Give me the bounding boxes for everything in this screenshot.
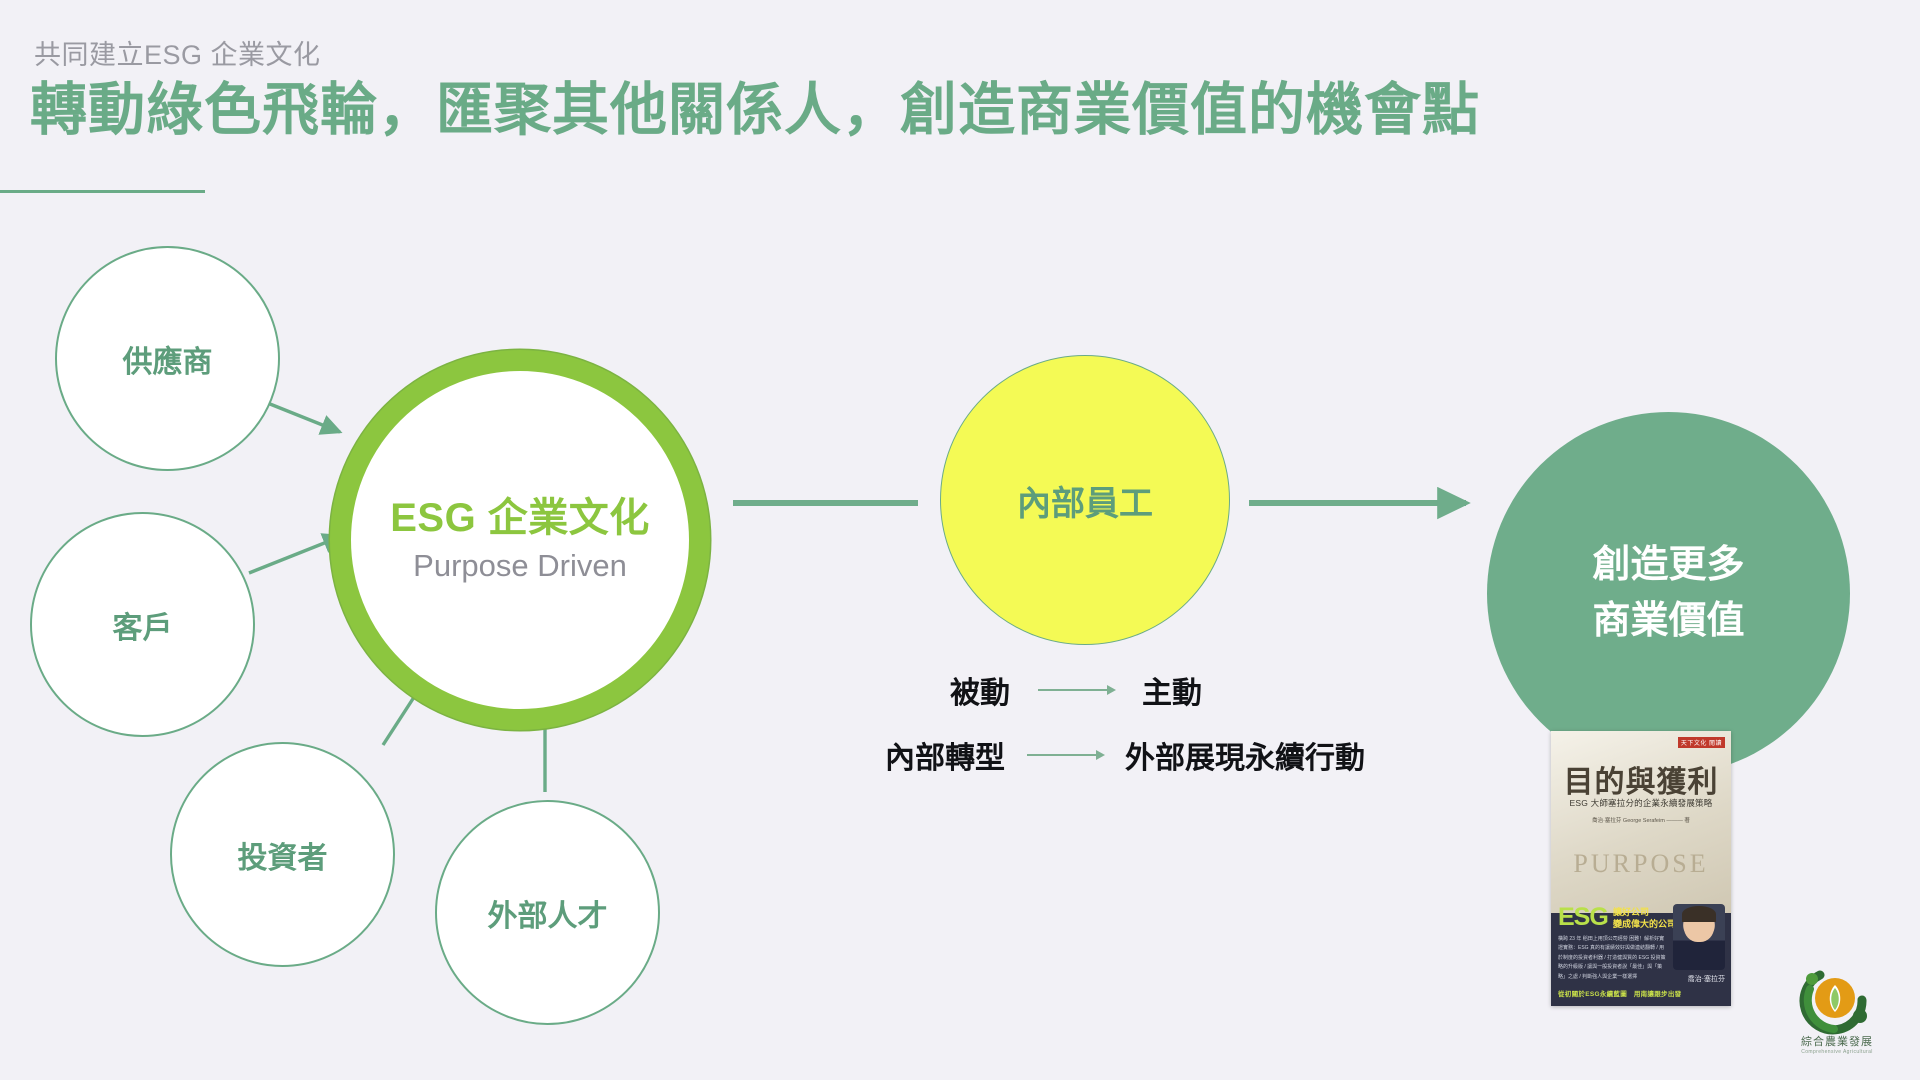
book-author-portrait bbox=[1673, 904, 1725, 970]
internal-staff-circle[interactable]: 內部員工 bbox=[940, 355, 1230, 645]
transition-to: 外部展現永續行動 bbox=[1125, 733, 1365, 777]
book-subtitle: ESG 大師塞拉分的企業永續發展策略 bbox=[1551, 797, 1731, 809]
esg-culture-core[interactable]: ESG 企業文化 Purpose Driven bbox=[330, 350, 710, 730]
book-publisher-badge: 天下文化 閱讀 bbox=[1678, 737, 1725, 748]
business-value-circle[interactable]: 創造更多 商業價值 bbox=[1487, 412, 1850, 775]
esg-core-title: ESG 企業文化 bbox=[390, 496, 650, 540]
stakeholder-supplier[interactable]: 供應商 bbox=[55, 246, 280, 471]
book-cover-image: 天下文化 閱讀 目的與獲利 ESG 大師塞拉分的企業永續發展策略 喬治‧塞拉芬 … bbox=[1551, 731, 1731, 1006]
page-title: 轉動綠色飛輪，匯聚其他關係人，創造商業價值的機會點 bbox=[30, 78, 1480, 144]
transition-to: 主動 bbox=[1142, 668, 1202, 712]
business-value-line1: 創造更多 bbox=[1592, 538, 1744, 593]
book-purpose-word: PURPOSE bbox=[1551, 849, 1731, 879]
book-strip-text: 從初關於ESG永續藍圖 用南讓跟步出發 bbox=[1558, 988, 1681, 998]
slide-canvas: 共同建立ESG 企業文化 轉動綠色飛輪，匯聚其他關係人，創造商業價值的機會點 供… bbox=[0, 0, 1920, 1080]
book-author-name: 喬治‧塞拉芬 bbox=[1688, 974, 1725, 984]
stakeholder-customer[interactable]: 客戶 bbox=[30, 512, 255, 737]
book-author: 喬治‧塞拉芬 George Serafeim ——— 著 bbox=[1551, 817, 1731, 827]
brand-logo: 綜合農業發展 Comprehensive Agricultural bbox=[1782, 965, 1892, 1073]
business-value-line2: 商業價值 bbox=[1592, 594, 1744, 649]
book-esg-tagline: 讓好公司 變成偉大的公司 bbox=[1613, 906, 1676, 930]
transition-row-2: 內部轉型 外部展現永續行動 bbox=[885, 733, 1365, 777]
transition-row-1: 被動 主動 bbox=[950, 668, 1202, 712]
book-title: 目的與獲利 bbox=[1551, 757, 1731, 801]
stakeholder-label: 供應商 bbox=[123, 337, 213, 381]
book-esg-tagline-line2: 變成偉大的公司 bbox=[1613, 918, 1676, 930]
stakeholder-label: 外部人才 bbox=[488, 891, 608, 935]
title-underline bbox=[0, 190, 205, 193]
book-esg-word: ESG bbox=[1558, 903, 1608, 932]
leaf-globe-icon bbox=[1782, 965, 1892, 1035]
stakeholder-label: 投資者 bbox=[238, 833, 328, 877]
stakeholder-external-talent[interactable]: 外部人才 bbox=[435, 800, 660, 1025]
transition-arrow-icon bbox=[1027, 754, 1103, 756]
logo-subcaption: Comprehensive Agricultural bbox=[1782, 1049, 1892, 1055]
book-blurb: 橫跨 23 年 稻田上用頂公司經營 困難！解析好實證實務：ESG 真的有讓績效好… bbox=[1558, 935, 1668, 983]
book-esg-tagline-line1: 讓好公司 bbox=[1613, 906, 1676, 918]
esg-core-subtitle: Purpose Driven bbox=[413, 548, 627, 584]
internal-staff-label: 內部員工 bbox=[1017, 476, 1153, 525]
stakeholder-label: 客戶 bbox=[113, 603, 173, 647]
transition-from: 內部轉型 bbox=[885, 733, 1005, 777]
stakeholder-investor[interactable]: 投資者 bbox=[170, 742, 395, 967]
transition-arrow-icon bbox=[1038, 689, 1114, 691]
logo-caption: 綜合農業發展 bbox=[1782, 1033, 1892, 1049]
transition-from: 被動 bbox=[950, 668, 1010, 712]
slide-kicker: 共同建立ESG 企業文化 bbox=[34, 33, 321, 72]
